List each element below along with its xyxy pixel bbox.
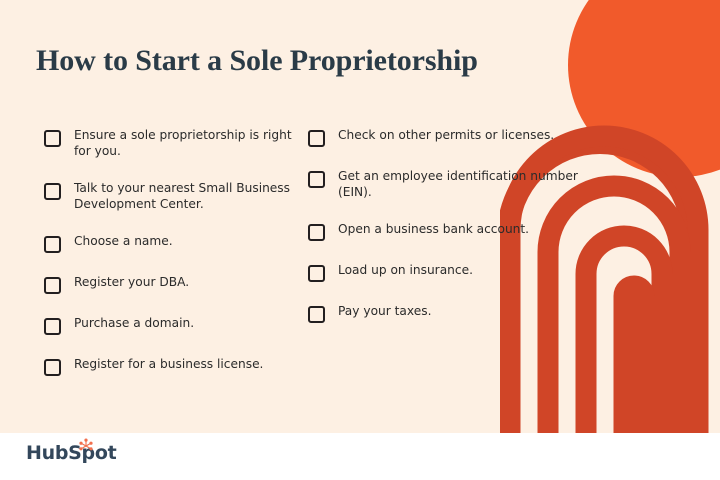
- list-item[interactable]: Register for a business license.: [44, 357, 294, 376]
- hubspot-logo[interactable]: HubSpot: [26, 440, 116, 466]
- list-item-label: Register for a business license.: [74, 357, 263, 373]
- list-item-label: Ensure a sole proprietorship is right fo…: [74, 128, 294, 159]
- list-item-label: Pay your taxes.: [338, 304, 431, 320]
- list-item[interactable]: Ensure a sole proprietorship is right fo…: [44, 128, 294, 159]
- checkbox-icon[interactable]: [44, 277, 61, 294]
- list-item-label: Register your DBA.: [74, 275, 189, 291]
- list-item[interactable]: Get an employee identification number (E…: [308, 169, 578, 200]
- list-item-label: Purchase a domain.: [74, 316, 194, 332]
- list-item-label: Choose a name.: [74, 234, 173, 250]
- list-item[interactable]: Purchase a domain.: [44, 316, 294, 335]
- list-item-label: Open a business bank account.: [338, 222, 529, 238]
- orange-circle: [568, 0, 720, 177]
- list-item[interactable]: Load up on insurance.: [308, 263, 578, 282]
- list-item[interactable]: Check on other permits or licenses.: [308, 128, 578, 147]
- arc-ring-3: [586, 236, 662, 433]
- list-item[interactable]: Register your DBA.: [44, 275, 294, 294]
- list-item-label: Check on other permits or licenses.: [338, 128, 554, 144]
- list-item[interactable]: Pay your taxes.: [308, 304, 578, 323]
- infographic-canvas: How to Start a Sole Proprietorship Ensur…: [0, 0, 720, 480]
- arc-ring-4: [624, 286, 644, 433]
- checkbox-icon[interactable]: [44, 318, 61, 335]
- checklist-left-column: Ensure a sole proprietorship is right fo…: [44, 128, 294, 398]
- list-item-label: Talk to your nearest Small Business Deve…: [74, 181, 294, 212]
- hubspot-wordmark: HubSpot: [26, 442, 116, 464]
- checkbox-icon[interactable]: [308, 130, 325, 147]
- list-item[interactable]: Talk to your nearest Small Business Deve…: [44, 181, 294, 212]
- checkbox-icon[interactable]: [44, 236, 61, 253]
- page-title: How to Start a Sole Proprietorship: [36, 44, 478, 78]
- checkbox-icon[interactable]: [308, 265, 325, 282]
- checkbox-icon[interactable]: [44, 130, 61, 147]
- hubspot-wordmark-text: HubSpot: [26, 442, 116, 464]
- list-item[interactable]: Open a business bank account.: [308, 222, 578, 241]
- list-item-label: Load up on insurance.: [338, 263, 473, 279]
- checkbox-icon[interactable]: [44, 359, 61, 376]
- checkbox-icon[interactable]: [308, 306, 325, 323]
- content-panel: How to Start a Sole Proprietorship Ensur…: [0, 0, 720, 433]
- list-item[interactable]: Choose a name.: [44, 234, 294, 253]
- checklist-right-column: Check on other permits or licenses. Get …: [308, 128, 578, 345]
- checkbox-icon[interactable]: [308, 224, 325, 241]
- sprocket-icon: [78, 437, 94, 459]
- list-item-label: Get an employee identification number (E…: [338, 169, 578, 200]
- checkbox-icon[interactable]: [308, 171, 325, 188]
- checkbox-icon[interactable]: [44, 183, 61, 200]
